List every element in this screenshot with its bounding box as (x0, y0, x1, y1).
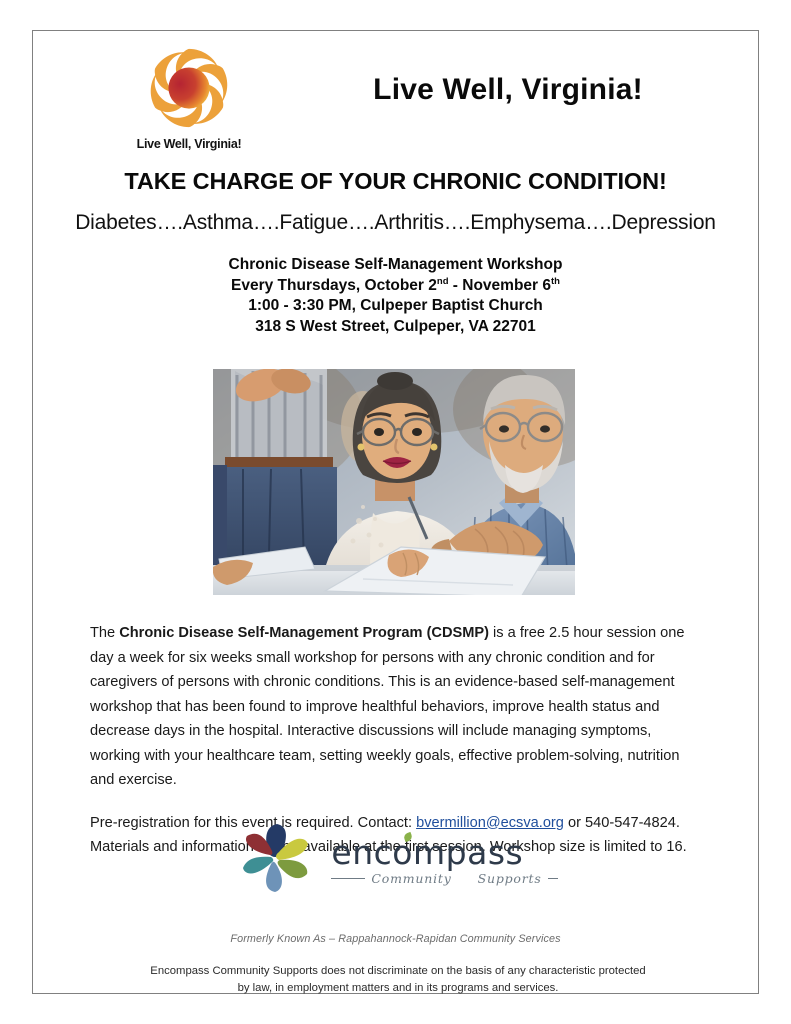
tagline-word-supports: Supports (478, 871, 542, 886)
tagline-rule-right (548, 878, 558, 879)
live-well-virginia-sun-icon (140, 43, 238, 135)
live-well-virginia-logo: Live Well, Virginia! (135, 43, 243, 163)
live-well-virginia-logo-caption: Live Well, Virginia! (135, 137, 243, 151)
event-workshop-name: Chronic Disease Self-Management Workshop (33, 255, 758, 276)
flyer-page: Live Well, Virginia! Live Well, Virginia… (32, 30, 759, 994)
encompass-name-part1: enc (331, 833, 392, 872)
page-title: Live Well, Virginia! (273, 73, 743, 107)
encompass-name: encompass (331, 836, 557, 870)
para1-lead: The (90, 625, 119, 641)
encompass-name-part2: mpass (413, 833, 523, 872)
encompass-name-o: o (392, 836, 413, 870)
event-dates-middle: - November 6 (449, 277, 552, 294)
event-details: Chronic Disease Self-Management Workshop… (33, 255, 758, 337)
formerly-known-as-note: Formerly Known As – Rappahannock-Rapidan… (33, 933, 758, 945)
event-dates-prefix: Every Thursdays, October 2 (231, 277, 437, 294)
program-description-paragraph: The Chronic Disease Self-Management Prog… (90, 621, 705, 793)
encompass-logo-block: encompass Community Supports (33, 823, 758, 898)
event-address: 318 S West Street, Culpeper, VA 22701 (33, 317, 758, 338)
encompass-wordmark: encompass Community Supports (331, 836, 557, 886)
encompass-tagline: Community Supports (331, 871, 557, 886)
event-dates-ordinal-1: nd (437, 275, 449, 286)
seniors-reading-documents-photo (213, 369, 575, 595)
program-name-bold: Chronic Disease Self-Management Program … (119, 625, 489, 641)
headline: TAKE CHARGE OF YOUR CHRONIC CONDITION! (33, 168, 758, 195)
flyer-header: Live Well, Virginia! Live Well, Virginia… (33, 31, 758, 151)
nondiscrimination-disclaimer: Encompass Community Supports does not di… (143, 963, 653, 997)
encompass-pinwheel-icon (233, 823, 317, 898)
para1-rest: is a free 2.5 hour session one day a wee… (90, 625, 685, 788)
tagline-rule-left (331, 878, 365, 879)
event-time-venue: 1:00 - 3:30 PM, Culpeper Baptist Church (33, 296, 758, 317)
event-dates-ordinal-2: th (551, 275, 560, 286)
event-dates: Every Thursdays, October 2nd - November … (33, 276, 758, 297)
condition-list: Diabetes….Asthma….Fatigue….Arthritis….Em… (33, 211, 758, 235)
tagline-word-community: Community (371, 871, 451, 886)
